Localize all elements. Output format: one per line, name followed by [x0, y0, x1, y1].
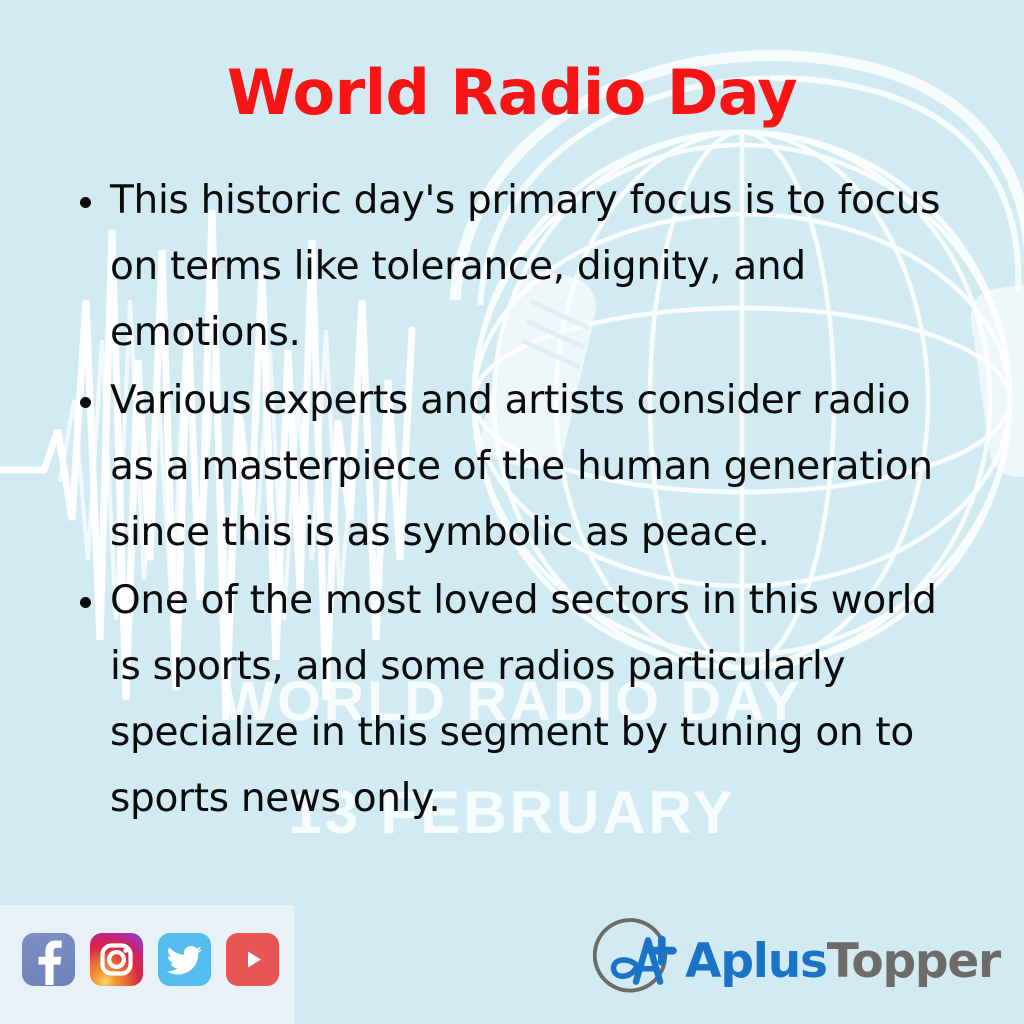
youtube-icon[interactable] — [226, 933, 279, 986]
social-links-panel — [0, 905, 294, 1024]
list-item: One of the most loved sectors in this wo… — [64, 568, 964, 832]
instagram-icon[interactable] — [90, 933, 143, 986]
page-title: World Radio Day — [0, 62, 1024, 124]
headphone-earcup-right — [967, 281, 1024, 480]
social-icon-row — [22, 933, 279, 986]
list-item: This historic day's primary focus is to … — [64, 168, 964, 366]
brand-name-part2: Topper — [827, 934, 1000, 989]
facebook-icon[interactable] — [22, 933, 75, 986]
brand-logo[interactable]: AplusTopper — [593, 918, 1000, 1004]
brand-name-part1: Aplus — [685, 934, 827, 989]
poster-canvas: WORLD RADIO DAY 13 FEBRUARY World Radio … — [0, 0, 1024, 1024]
content-area: This historic day's primary focus is to … — [64, 168, 964, 834]
brand-name: AplusTopper — [685, 938, 1000, 985]
bullet-list: This historic day's primary focus is to … — [64, 168, 964, 832]
list-item: Various experts and artists consider rad… — [64, 368, 964, 566]
a-plus-circle-icon — [593, 918, 679, 1004]
twitter-icon[interactable] — [158, 933, 211, 986]
